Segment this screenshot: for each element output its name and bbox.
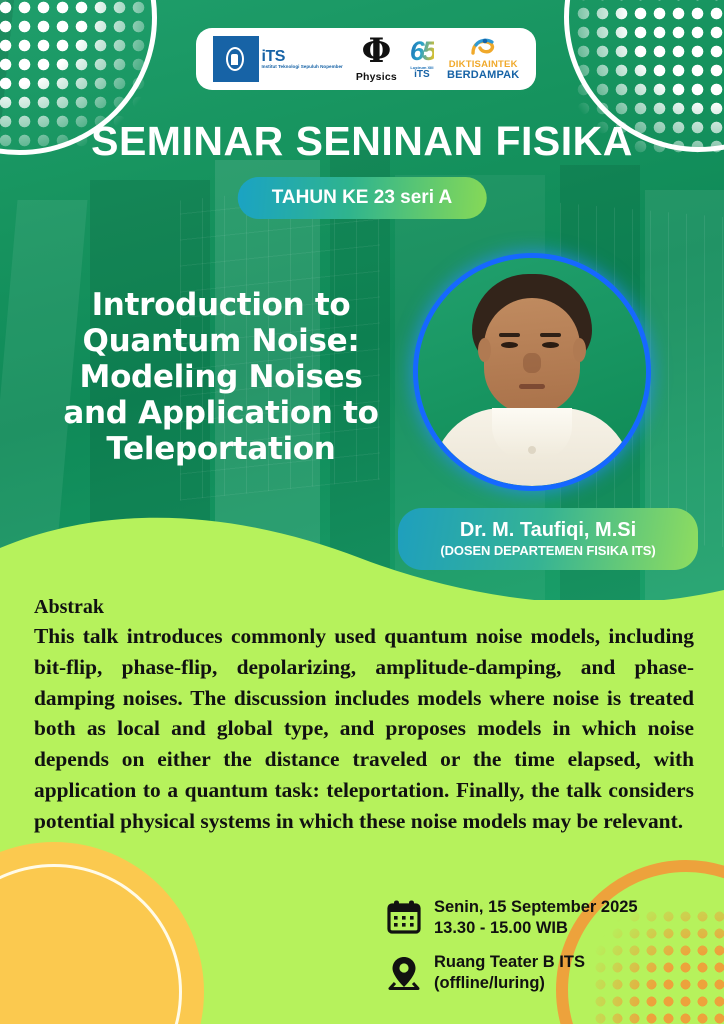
physics-logo: Φ Physics	[356, 34, 397, 84]
swoosh-icon	[447, 37, 519, 60]
abstract-section: Abstrak This talk introduces commonly us…	[34, 596, 694, 837]
event-date: Senin, 15 September 2025	[434, 898, 638, 916]
event-venue-row: Ruang Teater B ITS (offline/luring)	[384, 951, 638, 994]
its-logo-subtitle: Institut Teknologi Sepuluh Nopember	[262, 65, 343, 70]
diktisaintek-line2: BERDAMPAK	[447, 70, 519, 82]
its-emblem-icon	[213, 36, 259, 82]
diktisaintek-logo: DIKTISAINTEK BERDAMPAK	[447, 37, 519, 81]
its-monument-icon	[226, 47, 244, 71]
seminar-title: SEMINAR SENINAN FISIKA	[0, 118, 724, 165]
year-badge: TAHUN KE 23 seri A	[238, 177, 487, 219]
calendar-icon	[384, 896, 424, 938]
lustrum-number: 65	[410, 38, 434, 65]
abstract-body: This talk introduces commonly used quant…	[34, 621, 694, 837]
event-time: 13.30 - 15.00 WIB	[434, 919, 568, 937]
event-datetime-text: Senin, 15 September 2025 13.30 - 15.00 W…	[434, 896, 638, 939]
lustrum-65-its-logo: 65 Lustrum XIII iTS	[410, 38, 434, 80]
its-logo-text: iTS Institut Teknologi Sepuluh Nopember	[262, 49, 343, 70]
its-logo: iTS Institut Teknologi Sepuluh Nopember	[213, 36, 343, 82]
event-mode: (offline/luring)	[434, 974, 545, 992]
event-venue-text: Ruang Teater B ITS (offline/luring)	[434, 951, 585, 994]
avatar	[418, 258, 646, 486]
location-pin-icon	[384, 951, 424, 993]
logo-bar: iTS Institut Teknologi Sepuluh Nopember …	[196, 28, 536, 90]
speaker-role: (DOSEN DEPARTEMEN FISIKA ITS)	[416, 543, 680, 558]
event-venue: Ruang Teater B ITS	[434, 953, 585, 971]
speaker-badge: Dr. M. Taufiqi, M.Si (DOSEN DEPARTEMEN F…	[398, 508, 698, 570]
seminar-poster: iTS Institut Teknologi Sepuluh Nopember …	[0, 0, 724, 1024]
speaker-name: Dr. M. Taufiqi, M.Si	[416, 519, 680, 542]
speaker-photo	[418, 258, 646, 486]
talk-title: Introduction to Quantum Noise: Modeling …	[56, 288, 386, 468]
physics-logo-label: Physics	[356, 71, 397, 83]
event-datetime-row: Senin, 15 September 2025 13.30 - 15.00 W…	[384, 896, 638, 939]
abstract-heading: Abstrak	[34, 596, 694, 619]
its-logo-title: iTS	[262, 48, 285, 65]
event-info: Senin, 15 September 2025 13.30 - 15.00 W…	[384, 896, 638, 1006]
lustrum-org: iTS	[410, 70, 434, 80]
phi-icon: Φ	[356, 34, 397, 68]
